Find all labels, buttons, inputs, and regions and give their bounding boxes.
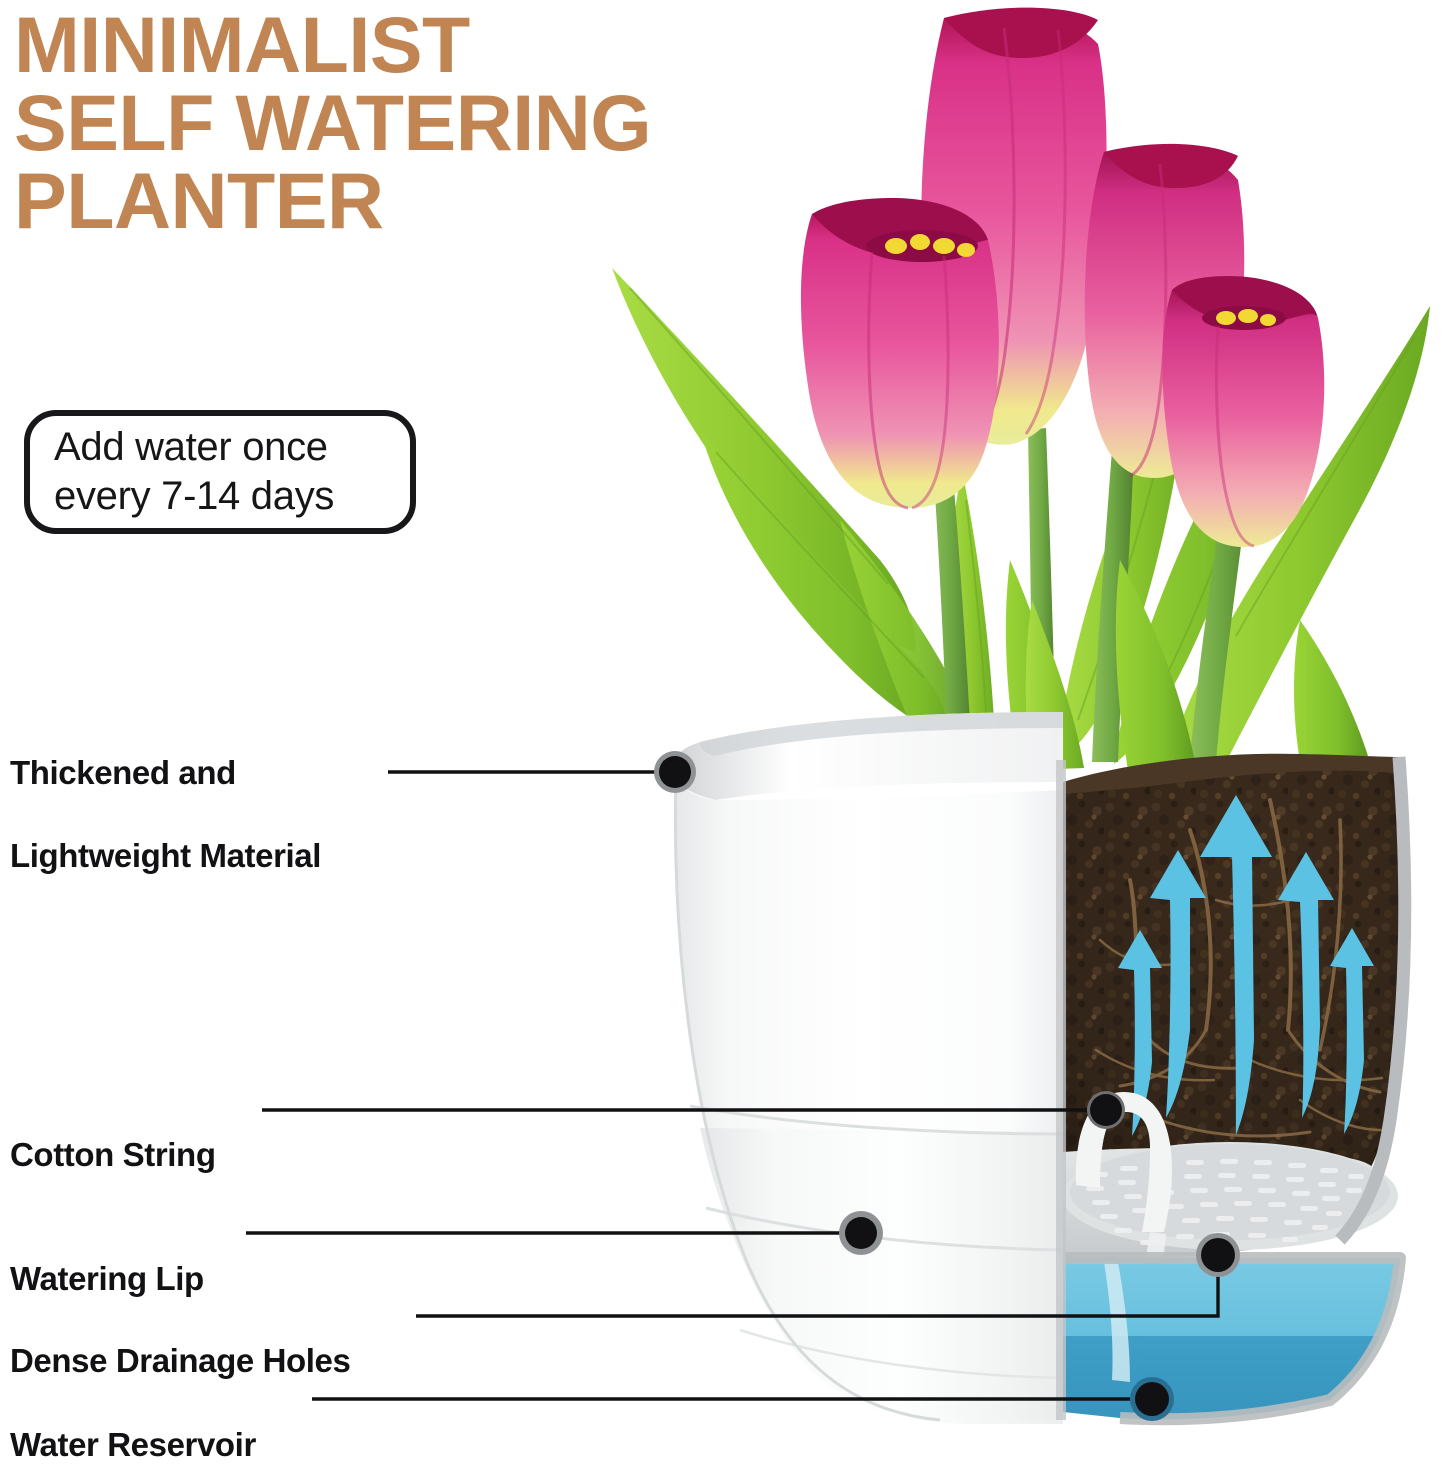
hotspot-material[interactable] (653, 750, 697, 794)
callout-label-watering-lip: Watering Lip (10, 1216, 204, 1299)
hotspot-drainage-holes[interactable] (1196, 1233, 1240, 1277)
badge-line-1: Add water once (54, 423, 334, 472)
badge-line-2: every 7-14 days (54, 472, 334, 521)
tulip-4 (1162, 276, 1324, 547)
hotspot-water-reservoir[interactable] (1130, 1377, 1174, 1421)
page-title: MINIMALIST SELF WATERING PLANTER (14, 6, 934, 241)
watering-frequency-badge: Add water once every 7-14 days (24, 410, 416, 534)
title-line-3: PLANTER (14, 162, 934, 240)
hotspot-watering-lip[interactable] (839, 1211, 883, 1255)
callout-material-line-2: Lightweight Material (10, 837, 321, 874)
callout-label-water-reservoir: Water Reservoir (10, 1382, 256, 1465)
water-reservoir (1050, 1250, 1420, 1430)
callout-drainage-line-1: Dense Drainage Holes (10, 1342, 350, 1379)
callout-label-material: Thickened and Lightweight Material (10, 710, 321, 876)
infographic-canvas: MINIMALIST SELF WATERING PLANTER Add wat… (0, 0, 1445, 1430)
title-line-1: MINIMALIST (14, 6, 934, 84)
planter-white-body (672, 712, 1063, 1424)
callout-material-line-1: Thickened and (10, 754, 236, 791)
hotspot-cotton-string[interactable] (1084, 1088, 1128, 1132)
tulip-3 (801, 198, 999, 508)
callout-label-cotton-string: Cotton String (10, 1092, 216, 1175)
callout-lip-line-1: Watering Lip (10, 1260, 204, 1297)
callout-reservoir-line-1: Water Reservoir (10, 1426, 256, 1463)
callout-label-drainage-holes: Dense Drainage Holes (10, 1298, 350, 1381)
callout-string-line-1: Cotton String (10, 1136, 216, 1173)
title-line-2: SELF WATERING (14, 84, 934, 162)
